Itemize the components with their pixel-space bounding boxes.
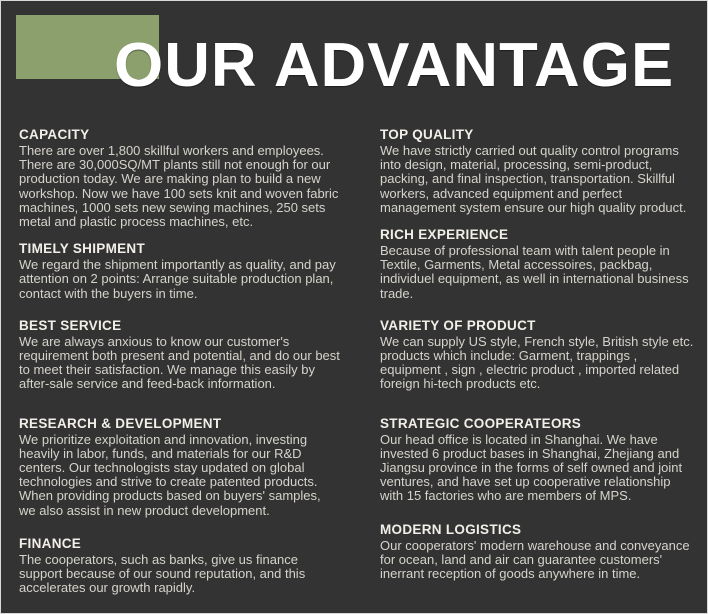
section-research-development: RESEARCH & DEVELOPMENT We prioritize exp…	[19, 416, 340, 518]
right-column: TOP QUALITY We have strictly carried out…	[358, 127, 697, 595]
advantage-poster: OUR ADVANTAGE CAPACITY There are over 1,…	[0, 0, 708, 614]
section-heading: CAPACITY	[19, 127, 340, 143]
section-top-quality: TOP QUALITY We have strictly carried out…	[380, 127, 697, 215]
section-body: We prioritize exploitation and innovatio…	[19, 433, 340, 518]
section-modern-logistics: MODERN LOGISTICS Our cooperators' modern…	[380, 522, 697, 582]
section-heading: VARIETY OF PRODUCT	[380, 318, 697, 334]
section-body: Because of professional team with talent…	[380, 244, 697, 301]
section-heading: RICH EXPERIENCE	[380, 227, 697, 243]
section-best-service: BEST SERVICE We are always anxious to kn…	[19, 318, 340, 392]
section-heading: BEST SERVICE	[19, 318, 340, 334]
section-heading: FINANCE	[19, 536, 340, 552]
section-rich-experience: RICH EXPERIENCE Because of professional …	[380, 227, 697, 301]
section-body: Our cooperators' modern warehouse and co…	[380, 539, 697, 582]
section-capacity: CAPACITY There are over 1,800 skillful w…	[19, 127, 340, 229]
page-title: OUR ADVANTAGE	[114, 35, 674, 97]
section-body: Our head office is located in Shanghai. …	[380, 433, 697, 504]
left-column: CAPACITY There are over 1,800 skillful w…	[19, 127, 358, 595]
section-variety-of-product: VARIETY OF PRODUCT We can supply US styl…	[380, 318, 697, 392]
section-body: There are over 1,800 skillful workers an…	[19, 144, 340, 229]
section-body: The cooperators, such as banks, give us …	[19, 553, 340, 596]
section-body: We can supply US style, French style, Br…	[380, 335, 697, 392]
section-strategic-cooperateors: STRATEGIC COOPERATEORS Our head office i…	[380, 416, 697, 504]
section-heading: STRATEGIC COOPERATEORS	[380, 416, 697, 432]
section-heading: MODERN LOGISTICS	[380, 522, 697, 538]
section-heading: TOP QUALITY	[380, 127, 697, 143]
section-body: We have strictly carried out quality con…	[380, 144, 697, 215]
section-body: We are always anxious to know our custom…	[19, 335, 340, 392]
section-finance: FINANCE The cooperators, such as banks, …	[19, 536, 340, 596]
poster-header: OUR ADVANTAGE	[1, 1, 707, 121]
section-heading: RESEARCH & DEVELOPMENT	[19, 416, 340, 432]
section-timely-shipment: TIMELY SHIPMENT We regard the shipment i…	[19, 241, 340, 301]
section-heading: TIMELY SHIPMENT	[19, 241, 340, 257]
section-body: We regard the shipment importantly as qu…	[19, 258, 340, 301]
content-columns: CAPACITY There are over 1,800 skillful w…	[1, 127, 707, 595]
